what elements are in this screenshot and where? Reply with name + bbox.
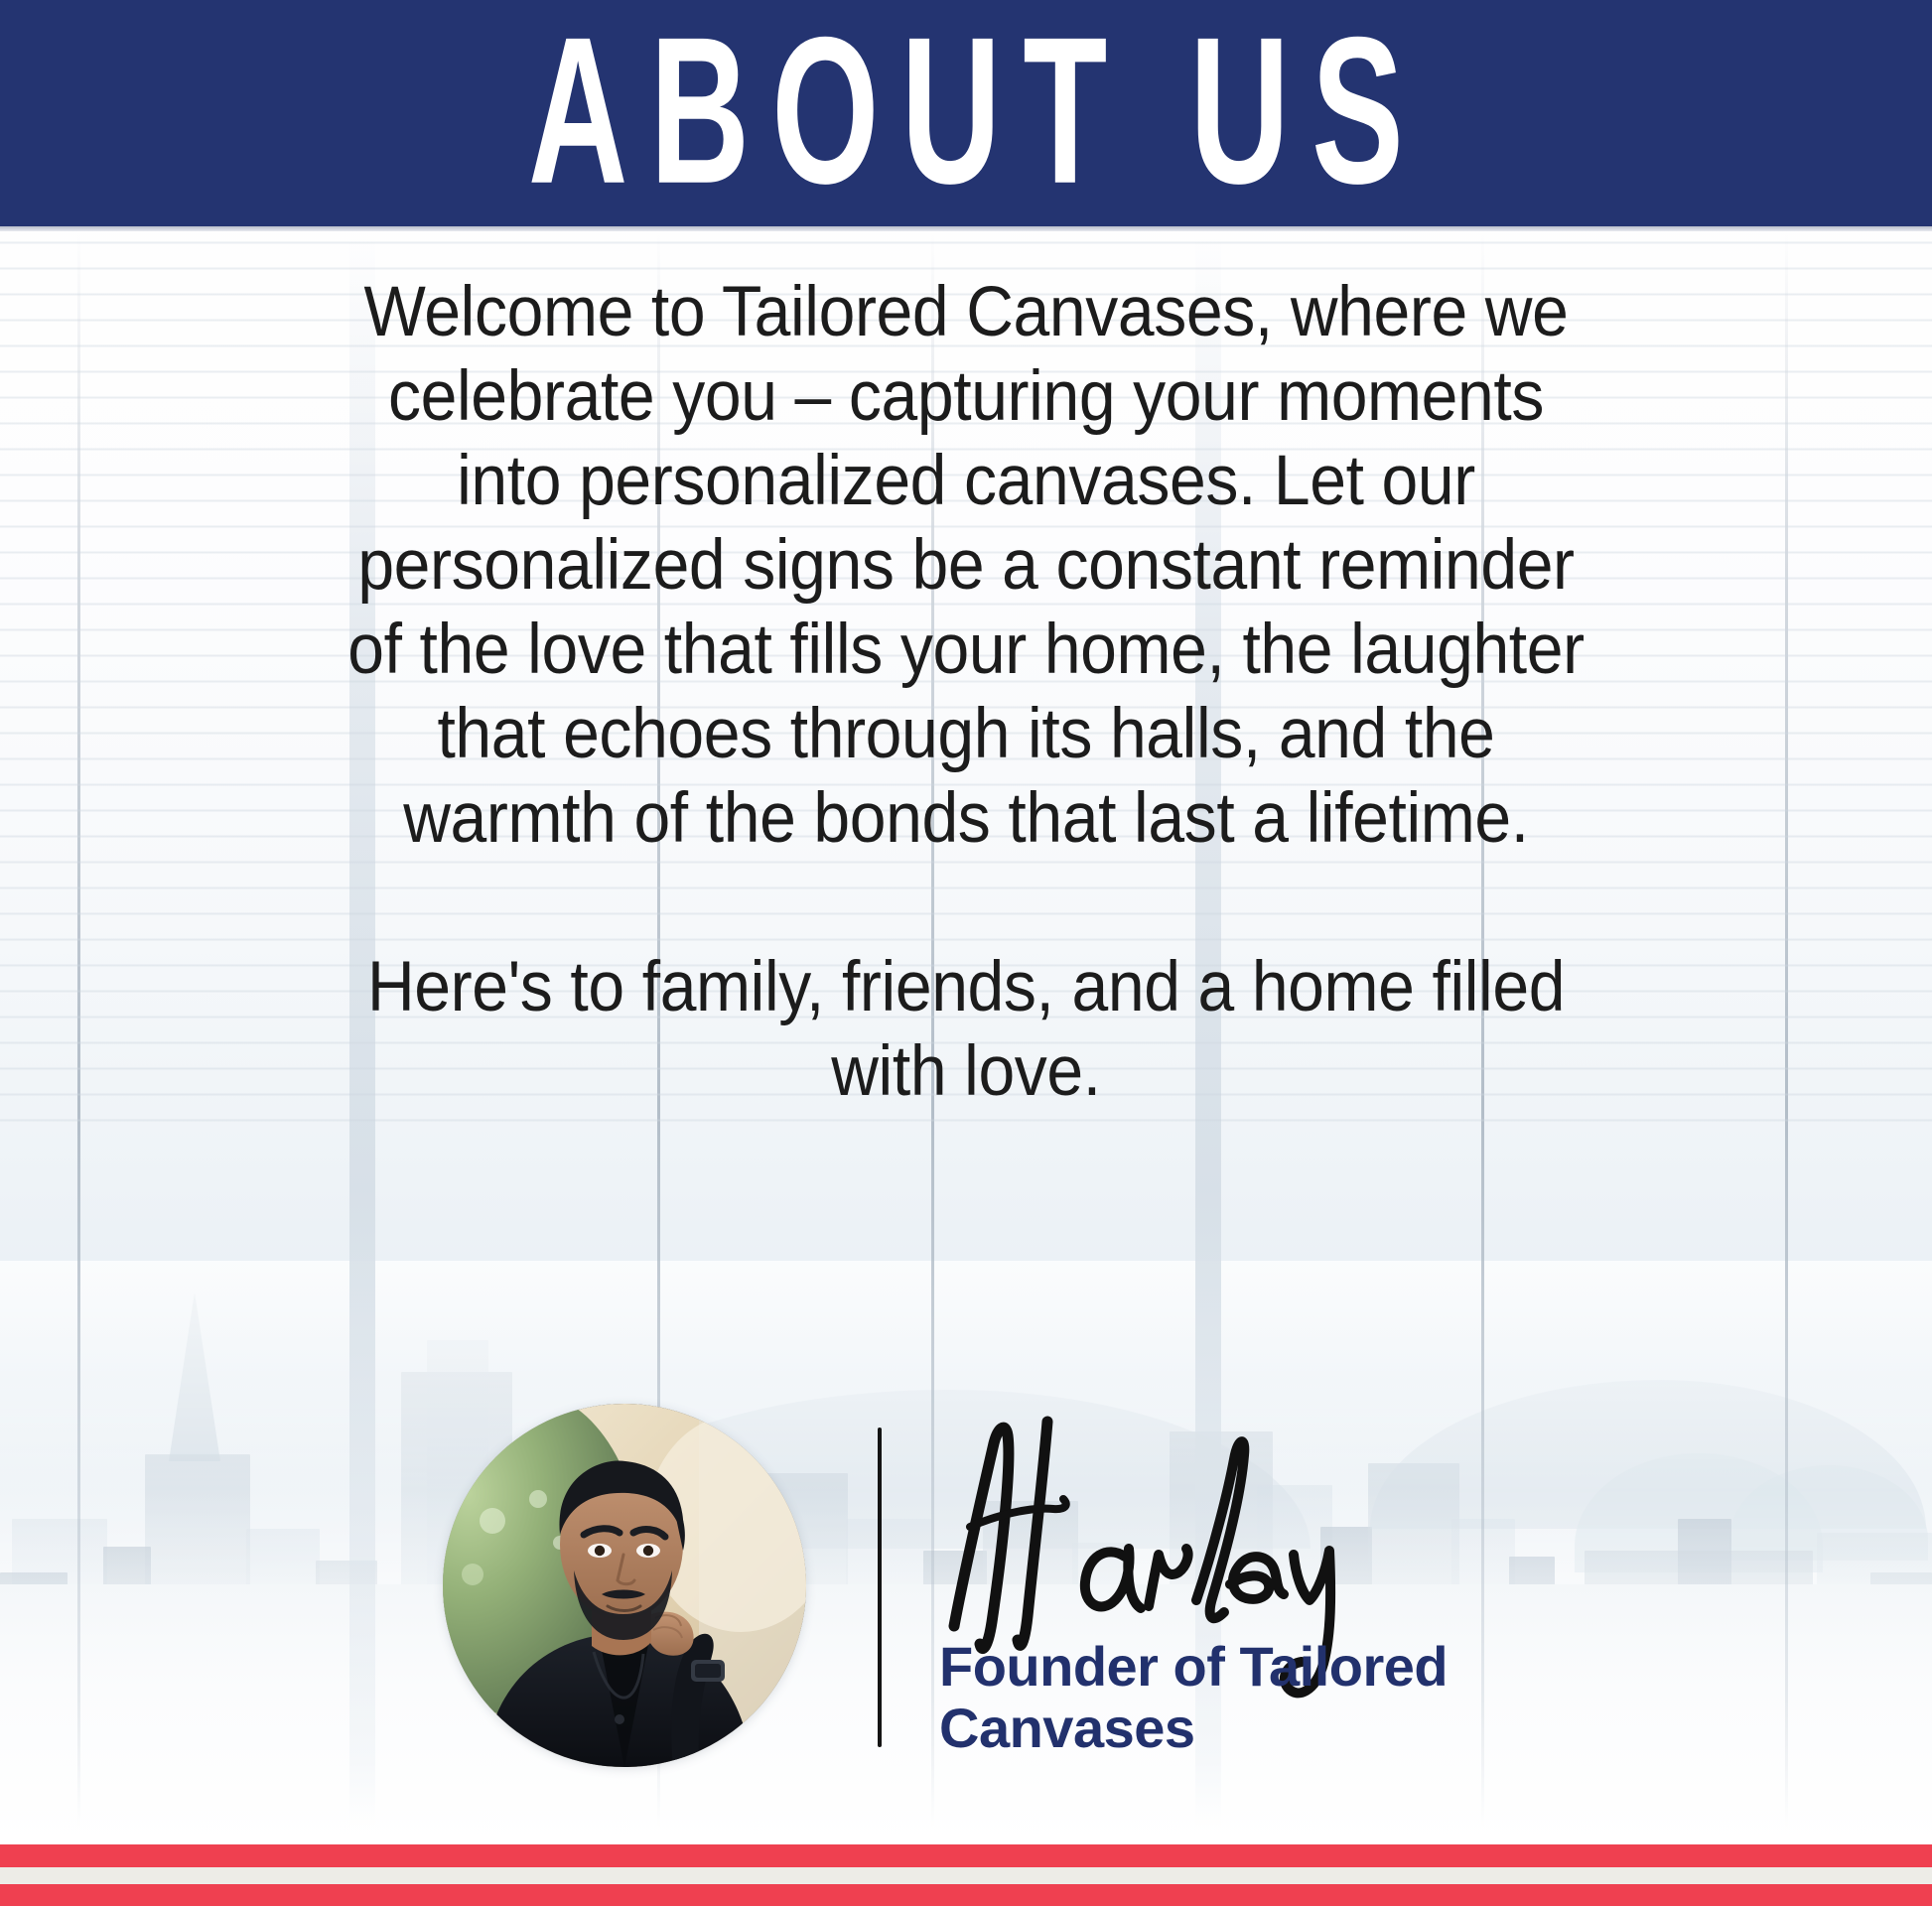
copy-line: that echoes through its halls, and the: [234, 692, 1699, 776]
copy-line: with love.: [234, 1029, 1699, 1114]
copy-line: warmth of the bonds that last a lifetime…: [234, 776, 1699, 861]
avatar: [443, 1404, 806, 1767]
about-us-poster: ABOUT US Welcome to Tailored Canvases, w…: [0, 0, 1932, 1906]
founder-title-line-1: Founder of Tailored: [939, 1636, 1575, 1698]
header-bar: ABOUT US: [0, 0, 1932, 226]
footer-accent-bar-bottom: [0, 1884, 1932, 1906]
founder-title: Founder of Tailored Canvases: [939, 1636, 1575, 1759]
copy-line: personalized signs be a constant reminde…: [234, 523, 1699, 608]
footer-accent-gap: [0, 1867, 1932, 1884]
header-underline-divider: [0, 226, 1932, 231]
copy-line: of the love that fills your home, the la…: [234, 608, 1699, 692]
about-body-copy: Welcome to Tailored Canvases, where we c…: [234, 270, 1699, 1114]
page-title: ABOUT US: [506, 6, 1426, 215]
footer-accent-bar-top: [0, 1844, 1932, 1867]
founder-title-line-2: Canvases: [939, 1698, 1575, 1759]
copy-line: celebrate you – capturing your moments: [234, 354, 1699, 439]
copy-line: Welcome to Tailored Canvases, where we: [234, 270, 1699, 354]
copy-line: into personalized canvases. Let our: [234, 439, 1699, 523]
vertical-divider: [878, 1428, 882, 1747]
paragraph-spacer: [234, 861, 1699, 945]
copy-line: Here's to family, friends, and a home fi…: [234, 945, 1699, 1029]
